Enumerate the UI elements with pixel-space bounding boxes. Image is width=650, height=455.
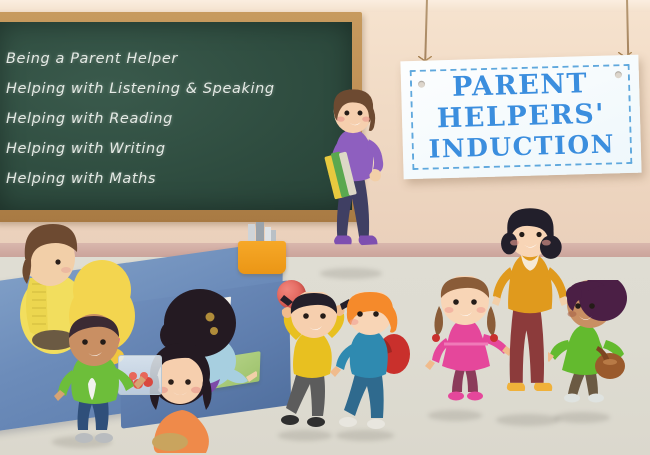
teacher-standing-at-board — [318, 78, 388, 274]
chalkboard-line: Helping with Writing — [6, 134, 336, 164]
chalkboard-text-list: Being a Parent Helper Helping with Liste… — [6, 44, 336, 194]
sign-line-parent: PARENT — [401, 69, 640, 103]
parent-helpers-induction-sign: PARENT HELPERS' INDUCTION — [400, 55, 641, 180]
chalkboard-line: Being a Parent Helper — [6, 44, 336, 74]
sign-line-helpers: HELPERS' — [402, 100, 641, 134]
chalkboard-line: Helping with Reading — [6, 104, 336, 134]
chalkboard-line: Helping with Listening & Speaking — [6, 74, 336, 104]
classroom-illustration: Being a Parent Helper Helping with Liste… — [0, 0, 650, 455]
girl-in-green-dress — [548, 280, 640, 414]
sign-line-induction: INDUCTION — [403, 131, 642, 163]
boy-in-green-shirt — [46, 314, 146, 446]
chalkboard-line: Helping with Maths — [6, 164, 336, 194]
wall-top-highlight — [0, 0, 650, 12]
chalkboard: Being a Parent Helper Helping with Liste… — [0, 22, 352, 210]
chalkboard-frame: Being a Parent Helper Helping with Liste… — [0, 12, 362, 222]
boy-with-red-backpack — [330, 292, 422, 438]
sign-text-block: PARENT HELPERS' INDUCTION — [401, 69, 641, 163]
storage-bin — [238, 241, 286, 274]
